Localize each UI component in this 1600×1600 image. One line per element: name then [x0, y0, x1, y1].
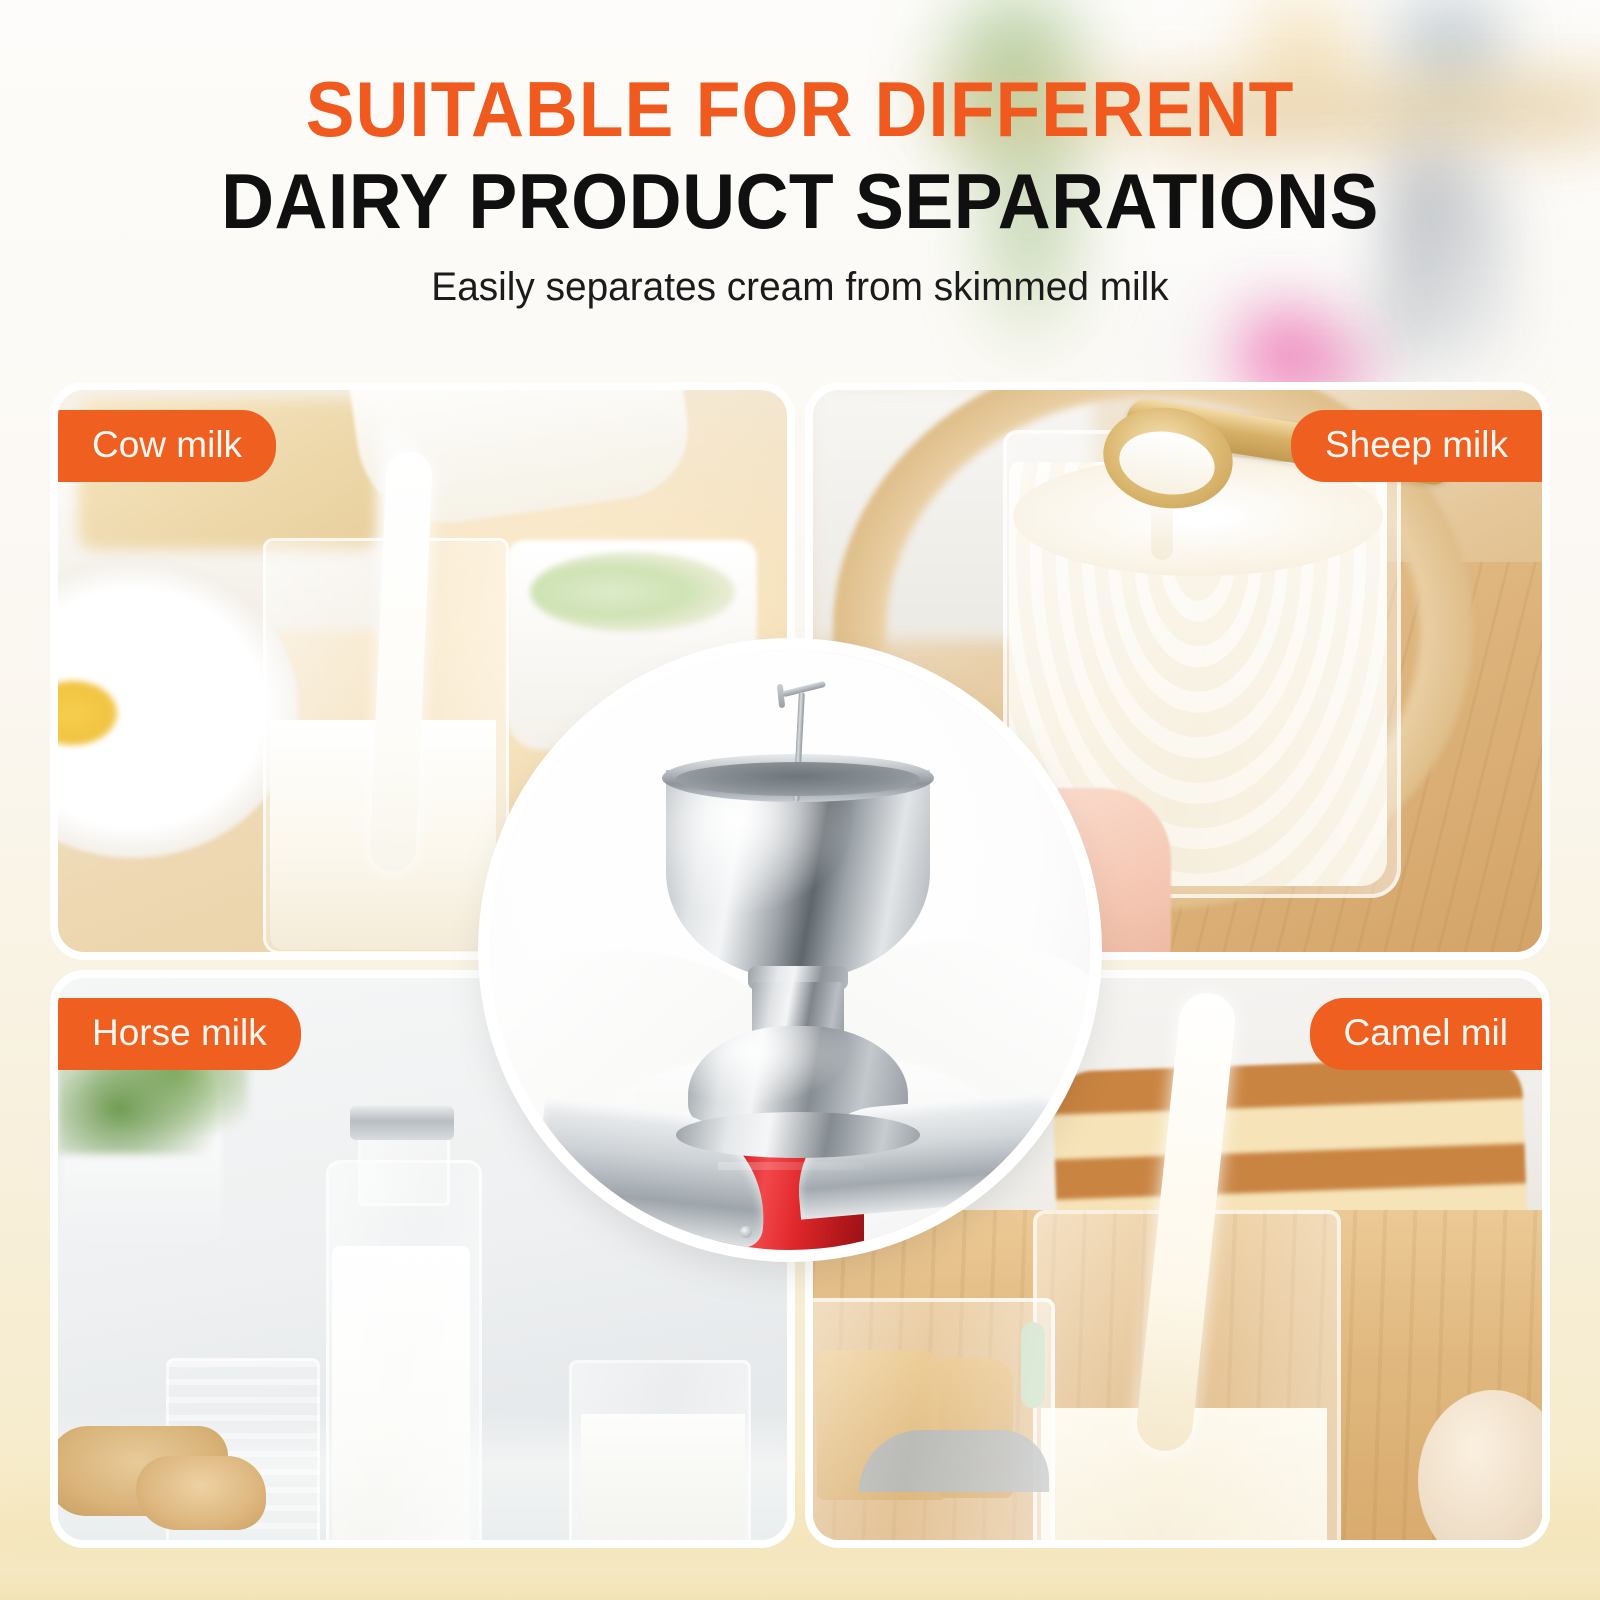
headline-primary: SUITABLE FOR DIFFERENT	[48, 0, 1552, 152]
badge-camel-milk: Camel mil	[1310, 998, 1542, 1070]
headline-subtitle: Easily separates cream from skimmed milk	[24, 244, 1576, 310]
horse-cookie-piece	[136, 1456, 266, 1530]
badge-cow-milk: Cow milk	[58, 410, 276, 482]
cylinder-highlight-band	[718, 1162, 864, 1170]
promo-graphic: SUITABLE FOR DIFFERENT DAIRY PRODUCT SEP…	[0, 0, 1600, 1600]
horse-milk-bottle	[326, 1160, 482, 1540]
bowl-interior	[676, 762, 920, 796]
headline-block: SUITABLE FOR DIFFERENT DAIRY PRODUCT SEP…	[0, 0, 1600, 310]
camel-printed-mug	[813, 1298, 1055, 1540]
horse-bottle-neck	[358, 1130, 450, 1206]
horse-tumbler-milk-fill	[581, 1414, 745, 1540]
bottom-gradient-band	[0, 1530, 1600, 1600]
housing-collar	[676, 1112, 920, 1158]
cow-bowl-salad	[530, 552, 735, 632]
horse-bottle-cap	[350, 1106, 454, 1140]
cylinder-screw	[740, 1226, 752, 1238]
headline-secondary: DAIRY PRODUCT SEPARATIONS	[48, 152, 1552, 244]
badge-horse-milk: Horse milk	[58, 998, 301, 1070]
badge-sheep-milk: Sheep milk	[1291, 410, 1542, 482]
product-hero-circle[interactable]	[490, 650, 1090, 1250]
